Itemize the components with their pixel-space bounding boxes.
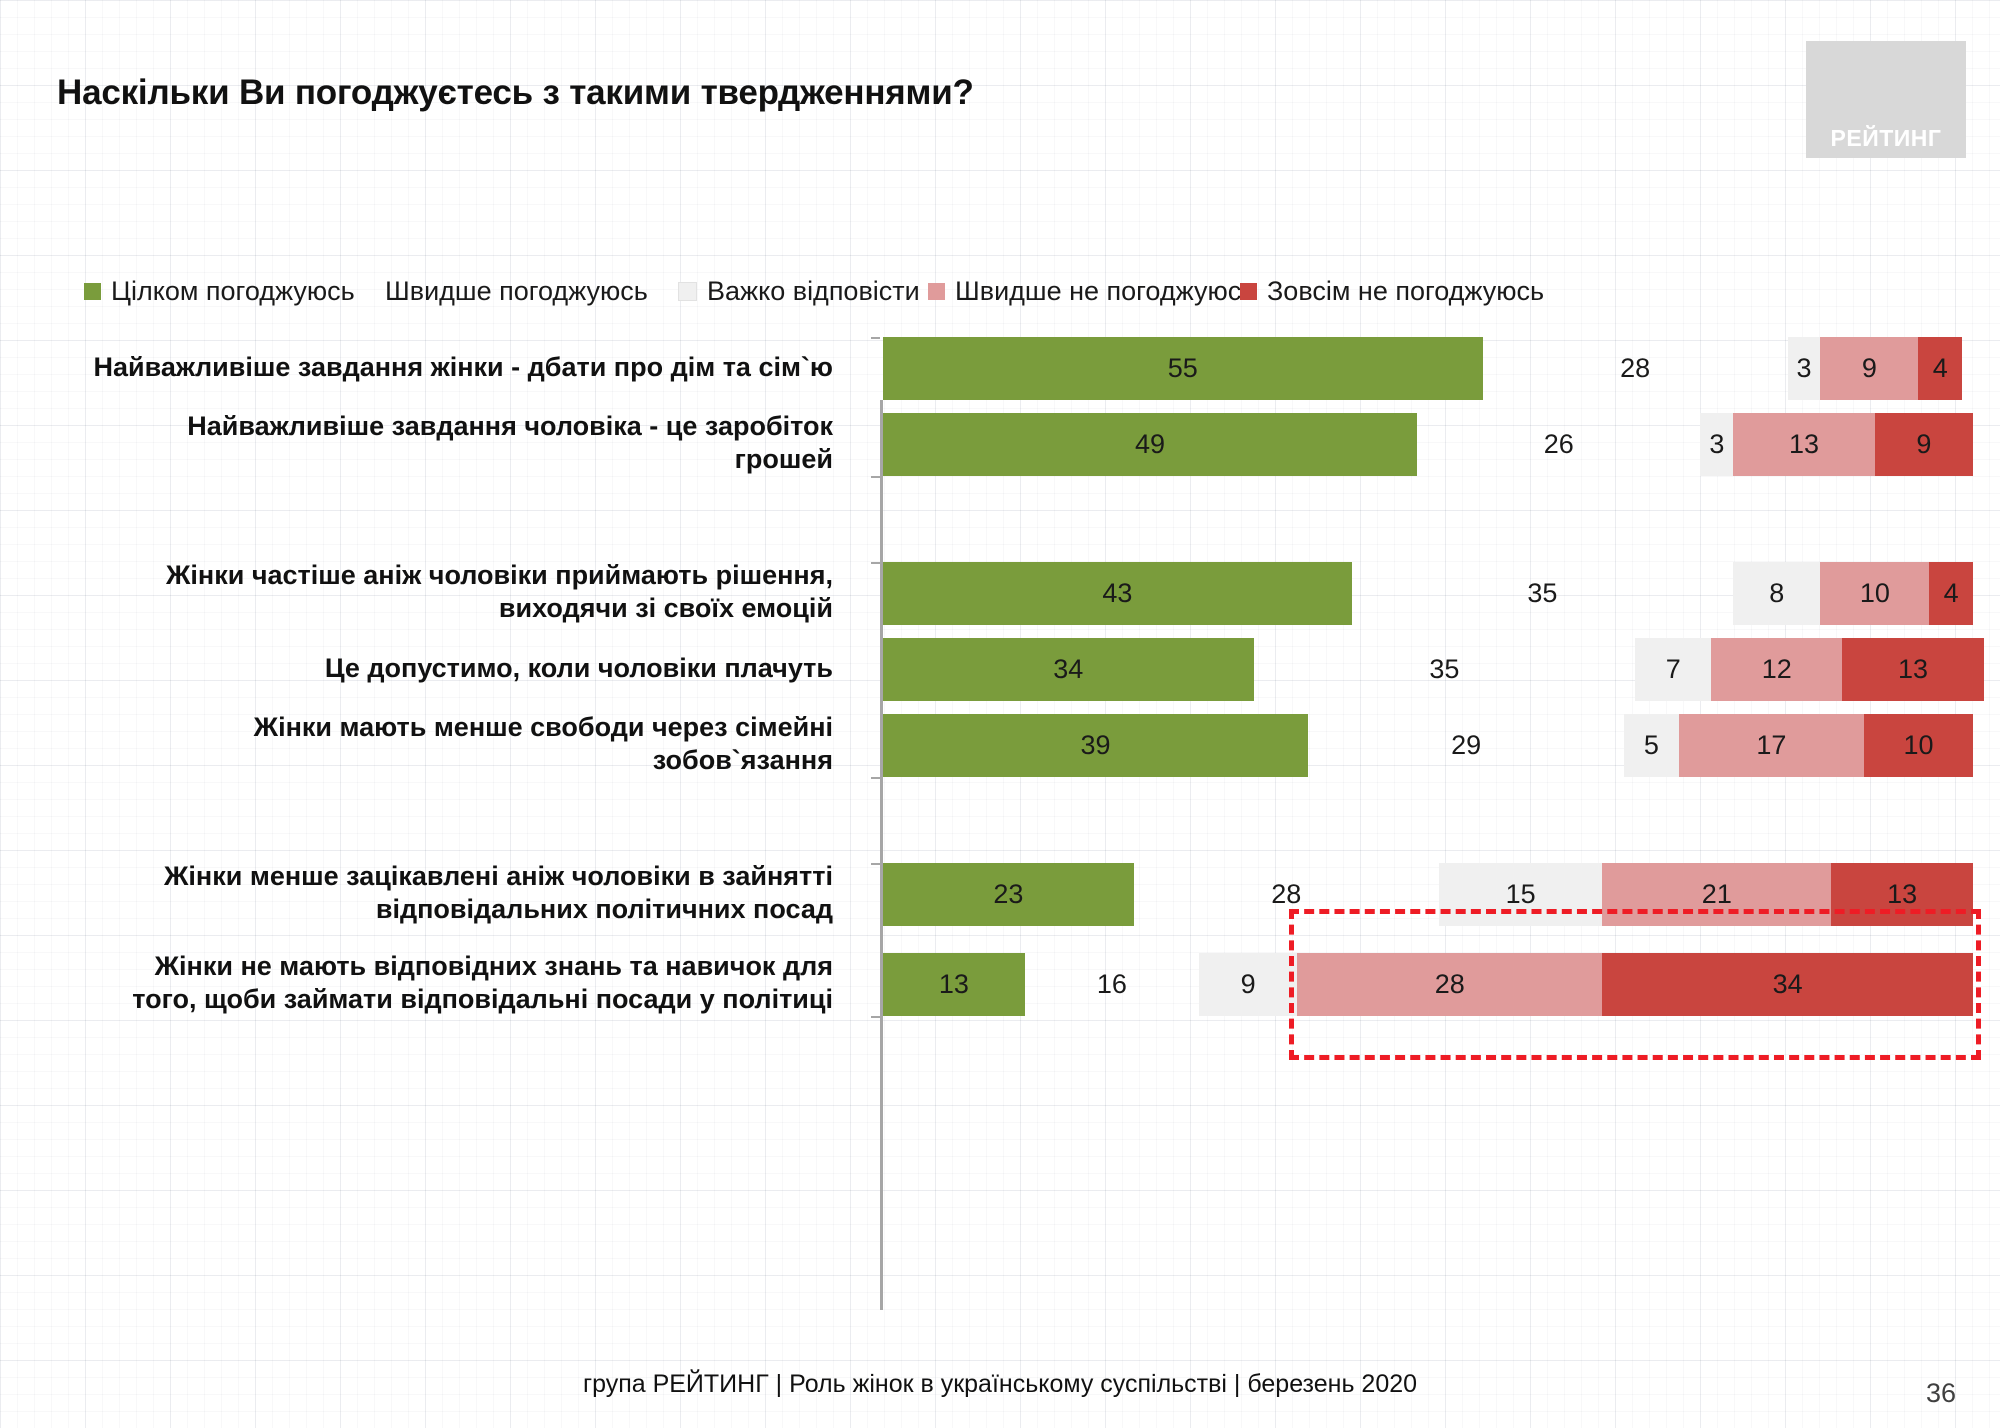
legend-label: Зовсім не погоджуюсь	[1267, 276, 1544, 307]
legend-label: Цілком погоджуюсь	[111, 276, 355, 307]
bar-segment-value: 3	[1709, 431, 1724, 458]
row-label: Жінки менше зацікавлені аніж чоловіки в …	[0, 860, 833, 928]
bar-segment-value: 10	[1860, 580, 1890, 607]
bar-segment[interactable]: 15	[1439, 863, 1603, 926]
axis-tick	[871, 777, 880, 779]
legend-swatch-icon	[1240, 283, 1257, 300]
bar-segment[interactable]: 35	[1254, 638, 1636, 701]
bar-segment-value: 35	[1429, 656, 1459, 683]
bar-segment-value: 28	[1435, 971, 1465, 998]
chart-row: Жінки мають менше свободи через сімейніз…	[880, 714, 1973, 777]
bar-segment-value: 34	[1053, 656, 1083, 683]
legend-swatch-icon	[928, 283, 945, 300]
stacked-bar: 2328152113	[883, 863, 1973, 926]
bar-segment[interactable]: 8	[1733, 562, 1820, 625]
bar-segment[interactable]: 13	[883, 953, 1025, 1016]
bar-segment-value: 4	[1944, 580, 1959, 607]
chart-legend: Цілком погоджуюсьШвидше погоджуюсьВажко …	[84, 276, 1944, 316]
bar-segment-value: 49	[1135, 431, 1165, 458]
legend-swatch-icon	[358, 283, 375, 300]
legend-item-4[interactable]: Швидше не погоджуюсь	[928, 276, 1255, 307]
category-axis	[880, 400, 883, 1310]
bar-segment[interactable]: 39	[883, 714, 1308, 777]
axis-tick	[871, 476, 880, 478]
bar-segment[interactable]: 13	[1831, 863, 1973, 926]
legend-item-2[interactable]: Швидше погоджуюсь	[358, 276, 648, 307]
bar-segment-value: 9	[1916, 431, 1931, 458]
bar-segment[interactable]: 35	[1352, 562, 1734, 625]
slide: Наскільки Ви погоджуєтесь з такими тверд…	[0, 0, 2000, 1428]
bar-segment[interactable]: 4	[1929, 562, 1973, 625]
bar-segment-value: 9	[1862, 355, 1877, 382]
bar-segment[interactable]: 9	[1820, 337, 1918, 400]
stacked-bar: 49263139	[883, 413, 1973, 476]
legend-item-1[interactable]: Цілком погоджуюсь	[84, 276, 355, 307]
bar-segment-value: 10	[1903, 732, 1933, 759]
logo-label: РЕЙТИНГ	[1831, 125, 1942, 152]
bar-segment-value: 21	[1702, 881, 1732, 908]
bar-segment[interactable]: 23	[883, 863, 1134, 926]
bar-segment[interactable]: 9	[1875, 413, 1973, 476]
chart-row: Це допустимо, коли чоловіки плачуть34357…	[880, 638, 1973, 701]
row-label: Жінки не мають відповідних знань та нави…	[0, 950, 833, 1018]
bar-segment-value: 16	[1097, 971, 1127, 998]
legend-label: Швидше погоджуюсь	[385, 276, 648, 307]
axis-tick	[871, 1016, 880, 1018]
bar-segment[interactable]: 12	[1711, 638, 1842, 701]
bar-segment-value: 28	[1620, 355, 1650, 382]
stacked-bar: 5528394	[883, 337, 1962, 400]
bar-segment-value: 5	[1644, 732, 1659, 759]
row-label: Найважливіше завдання чоловіка - це заро…	[0, 410, 833, 478]
bar-segment[interactable]: 13	[1842, 638, 1984, 701]
row-label: Найважливіше завдання жінки - дбати про …	[0, 351, 833, 385]
bar-segment[interactable]: 5	[1624, 714, 1679, 777]
page-number: 36	[1926, 1378, 1956, 1409]
bar-segment-value: 23	[993, 881, 1023, 908]
row-label: Це допустимо, коли чоловіки плачуть	[0, 652, 833, 686]
stacked-bar: 343571213	[883, 638, 1984, 701]
stacked-bar: 392951710	[883, 714, 1973, 777]
bar-segment[interactable]: 34	[1602, 953, 1973, 1016]
bar-segment[interactable]: 13	[1733, 413, 1875, 476]
bar-segment[interactable]: 21	[1602, 863, 1831, 926]
bar-segment[interactable]: 26	[1417, 413, 1700, 476]
bar-segment[interactable]: 55	[883, 337, 1483, 400]
row-label: Жінки мають менше свободи через сімейніз…	[0, 711, 833, 779]
stacked-bar: 131692834	[883, 953, 1973, 1016]
axis-tick	[871, 562, 880, 564]
chart-row: Найважливіше завдання чоловіка - це заро…	[880, 413, 1973, 476]
chart-row: Жінки не мають відповідних знань та нави…	[880, 953, 1973, 1016]
bar-segment[interactable]: 3	[1700, 413, 1733, 476]
chart-row: Найважливіше завдання жінки - дбати про …	[880, 337, 1973, 400]
bar-segment-value: 3	[1797, 355, 1812, 382]
bar-segment[interactable]: 28	[1483, 337, 1788, 400]
bar-segment-value: 28	[1271, 881, 1301, 908]
bar-segment[interactable]: 17	[1679, 714, 1864, 777]
chart-row: Жінки частіше аніж чоловіки приймають рі…	[880, 562, 1973, 625]
legend-swatch-icon	[678, 282, 697, 301]
row-label: Жінки частіше аніж чоловіки приймають рі…	[0, 559, 833, 627]
legend-swatch-icon	[84, 283, 101, 300]
legend-item-3[interactable]: Важко відповісти	[678, 276, 920, 307]
bar-segment-value: 29	[1451, 732, 1481, 759]
legend-item-5[interactable]: Зовсім не погоджуюсь	[1240, 276, 1544, 307]
bar-segment-value: 43	[1102, 580, 1132, 607]
rating-logo: РЕЙТИНГ	[1806, 41, 1966, 158]
bar-segment-value: 15	[1506, 881, 1536, 908]
bar-segment[interactable]: 4	[1918, 337, 1962, 400]
legend-label: Важко відповісти	[707, 276, 920, 307]
bar-segment-value: 7	[1666, 656, 1681, 683]
bar-segment[interactable]: 3	[1788, 337, 1821, 400]
stacked-bar: 43358104	[883, 562, 1973, 625]
bar-segment-value: 39	[1081, 732, 1111, 759]
bar-segment-value: 8	[1769, 580, 1784, 607]
chart-row: Жінки менше зацікавлені аніж чоловіки в …	[880, 863, 1973, 926]
legend-label: Швидше не погоджуюсь	[955, 276, 1255, 307]
axis-tick	[871, 863, 880, 865]
bar-segment-value: 55	[1168, 355, 1198, 382]
page-title: Наскільки Ви погоджуєтесь з такими тверд…	[57, 73, 974, 113]
chart-plot-area: Найважливіше завдання жінки - дбати про …	[880, 400, 1973, 1310]
bar-segment[interactable]: 10	[1820, 562, 1929, 625]
bar-segment-value: 34	[1773, 971, 1803, 998]
bar-segment-value: 9	[1241, 971, 1256, 998]
bar-segment-value: 35	[1527, 580, 1557, 607]
bar-segment-value: 17	[1756, 732, 1786, 759]
bar-segment[interactable]: 7	[1635, 638, 1711, 701]
bar-segment[interactable]: 16	[1025, 953, 1199, 1016]
footer-source: група РЕЙТИНГ | Роль жінок в українськом…	[0, 1370, 2000, 1399]
axis-tick	[871, 337, 880, 339]
bar-segment-value: 13	[1887, 881, 1917, 908]
bar-segment-value: 13	[1789, 431, 1819, 458]
bar-segment[interactable]: 9	[1199, 953, 1297, 1016]
bar-segment-value: 12	[1762, 656, 1792, 683]
bar-segment[interactable]: 28	[1297, 953, 1602, 1016]
bar-segment[interactable]: 34	[883, 638, 1254, 701]
bar-segment[interactable]: 29	[1308, 714, 1624, 777]
bar-segment[interactable]: 43	[883, 562, 1352, 625]
bar-segment[interactable]: 49	[883, 413, 1417, 476]
bar-segment[interactable]: 10	[1864, 714, 1973, 777]
bar-segment-value: 13	[939, 971, 969, 998]
bar-segment[interactable]: 28	[1134, 863, 1439, 926]
bar-segment-value: 26	[1544, 431, 1574, 458]
bar-segment-value: 4	[1933, 355, 1948, 382]
bar-segment-value: 13	[1898, 656, 1928, 683]
